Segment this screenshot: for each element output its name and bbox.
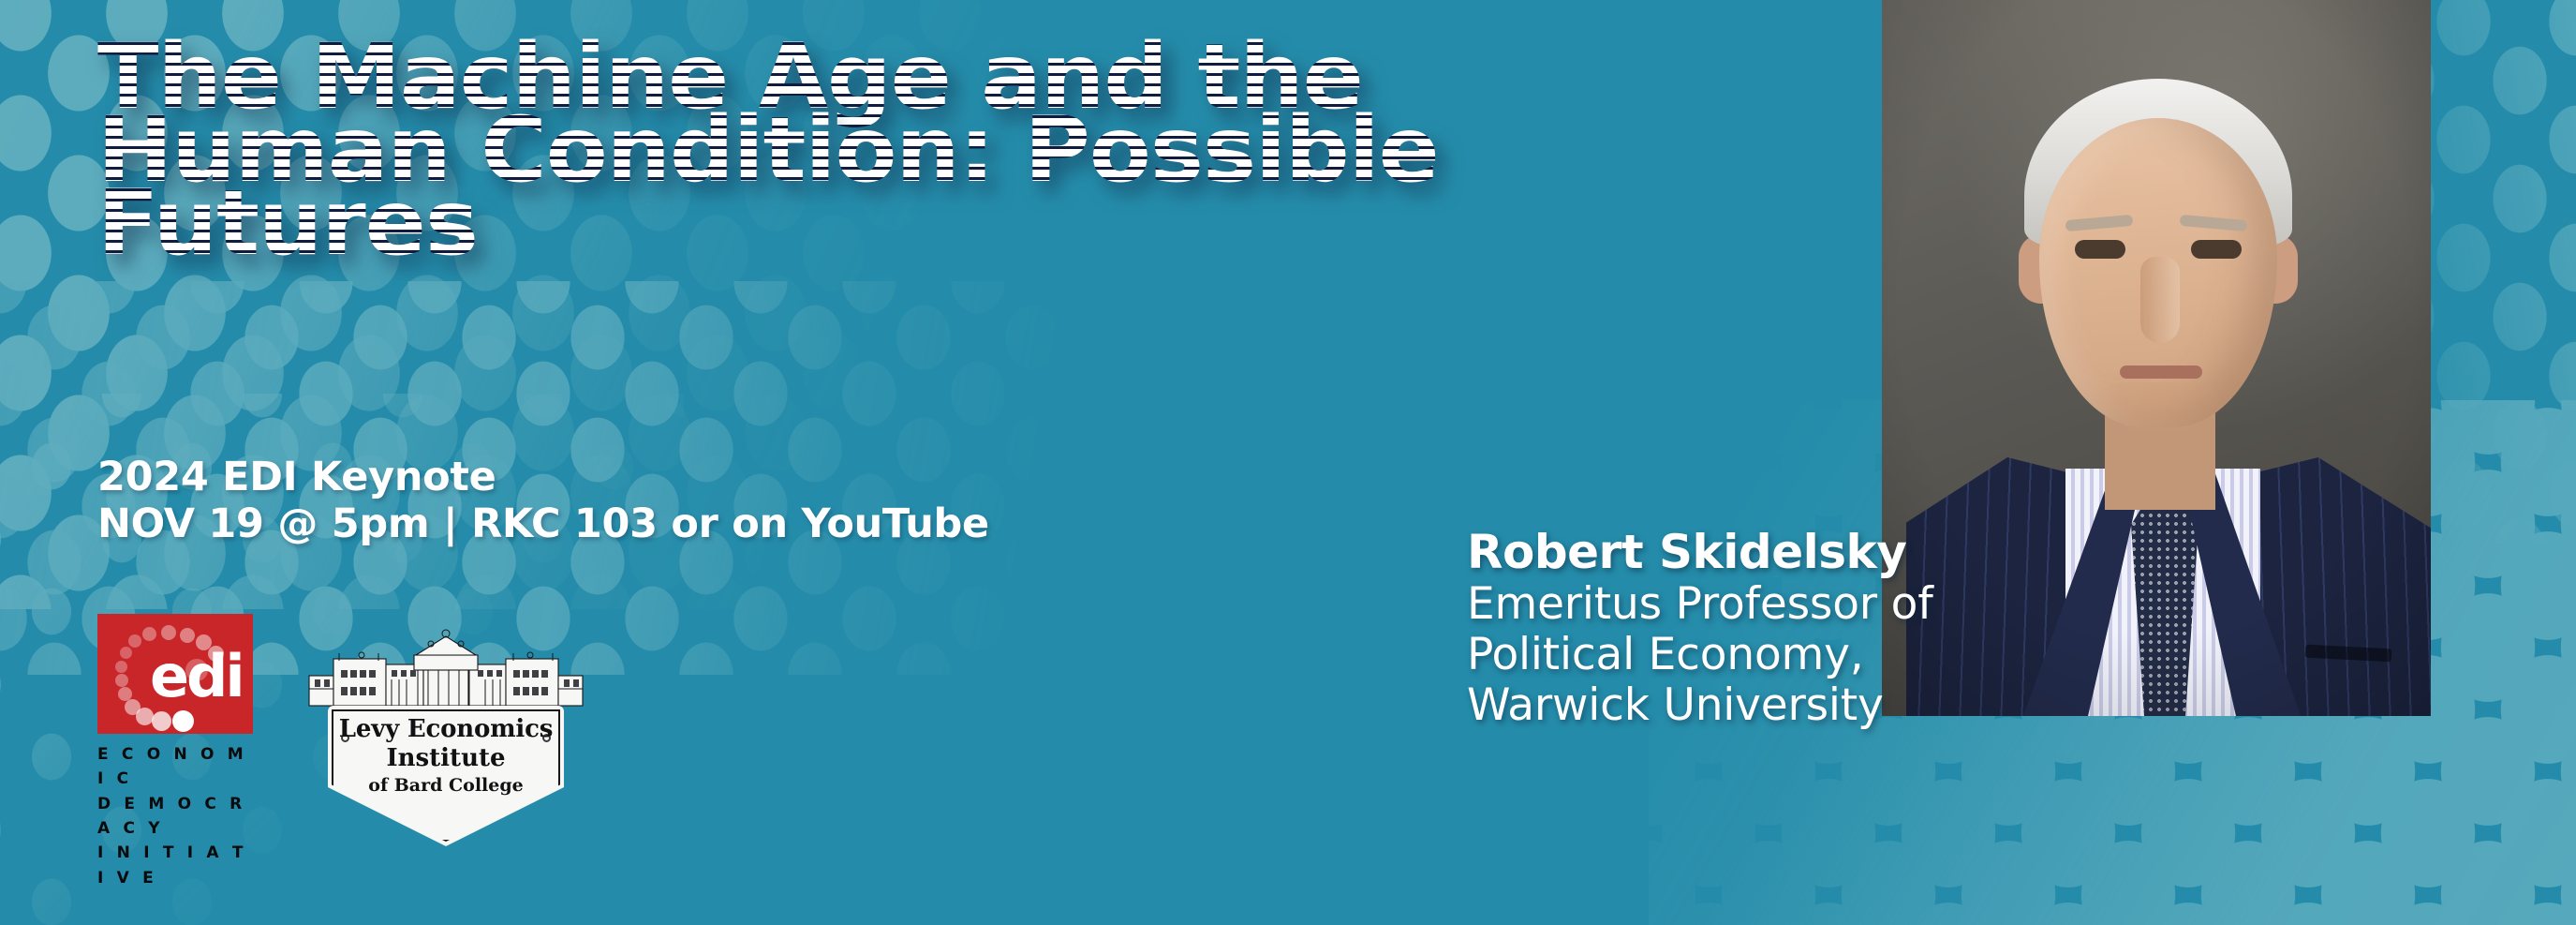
logo-row: edi E C O N O M I C D E M O C R A C Y I …	[97, 614, 586, 890]
speaker-name: Robert Skidelsky	[1467, 528, 1933, 577]
banner-title: The Machine Age and the The Machine Age …	[97, 43, 1858, 262]
edi-caption-line-1: E C O N O M I C	[97, 742, 253, 792]
event-series-label: 2024 EDI Keynote	[97, 456, 989, 498]
levy-name-line-3: of Bard College	[328, 775, 564, 796]
event-details: 2024 EDI Keynote NOV 19 @ 5pm | RKC 103 …	[97, 456, 989, 545]
levy-name-line-2: Institute	[328, 744, 564, 772]
edi-logo[interactable]: edi E C O N O M I C D E M O C R A C Y I …	[97, 614, 253, 890]
edi-logo-mark: edi	[97, 614, 253, 734]
edi-caption-line-3: I N I T I A T I V E	[97, 841, 253, 890]
levy-institute-building-icon	[305, 627, 586, 713]
title-line-3: Futures Futures	[97, 189, 1858, 257]
speaker-title-line-2: Political Economy,	[1467, 632, 1933, 679]
speaker-caption: Robert Skidelsky Emeritus Professor of P…	[1467, 528, 1933, 728]
edi-caption-line-2: D E M O C R A C Y	[97, 792, 253, 842]
levy-institute-name: Levy Economics Institute of Bard College	[328, 715, 564, 796]
photo-vignette	[1882, 0, 2431, 716]
levy-institute-shield: Levy Economics Institute of Bard College	[328, 706, 564, 846]
edi-logo-wordmark: edi	[150, 648, 243, 706]
levy-economics-institute-logo[interactable]: Levy Economics Institute of Bard College	[305, 627, 586, 848]
edi-logo-caption: E C O N O M I C D E M O C R A C Y I N I …	[97, 742, 253, 890]
speaker-title-line-3: Warwick University	[1467, 682, 1933, 729]
event-banner: The Machine Age and the The Machine Age …	[0, 0, 2576, 925]
title-line-3-text: Futures	[97, 171, 478, 276]
speaker-title-line-1: Emeritus Professor of	[1467, 581, 1933, 628]
event-datetime-location: NOV 19 @ 5pm | RKC 103 or on YouTube	[97, 503, 989, 545]
levy-name-line-1: Levy Economics	[328, 715, 564, 743]
speaker-portrait-photo	[1882, 0, 2431, 716]
